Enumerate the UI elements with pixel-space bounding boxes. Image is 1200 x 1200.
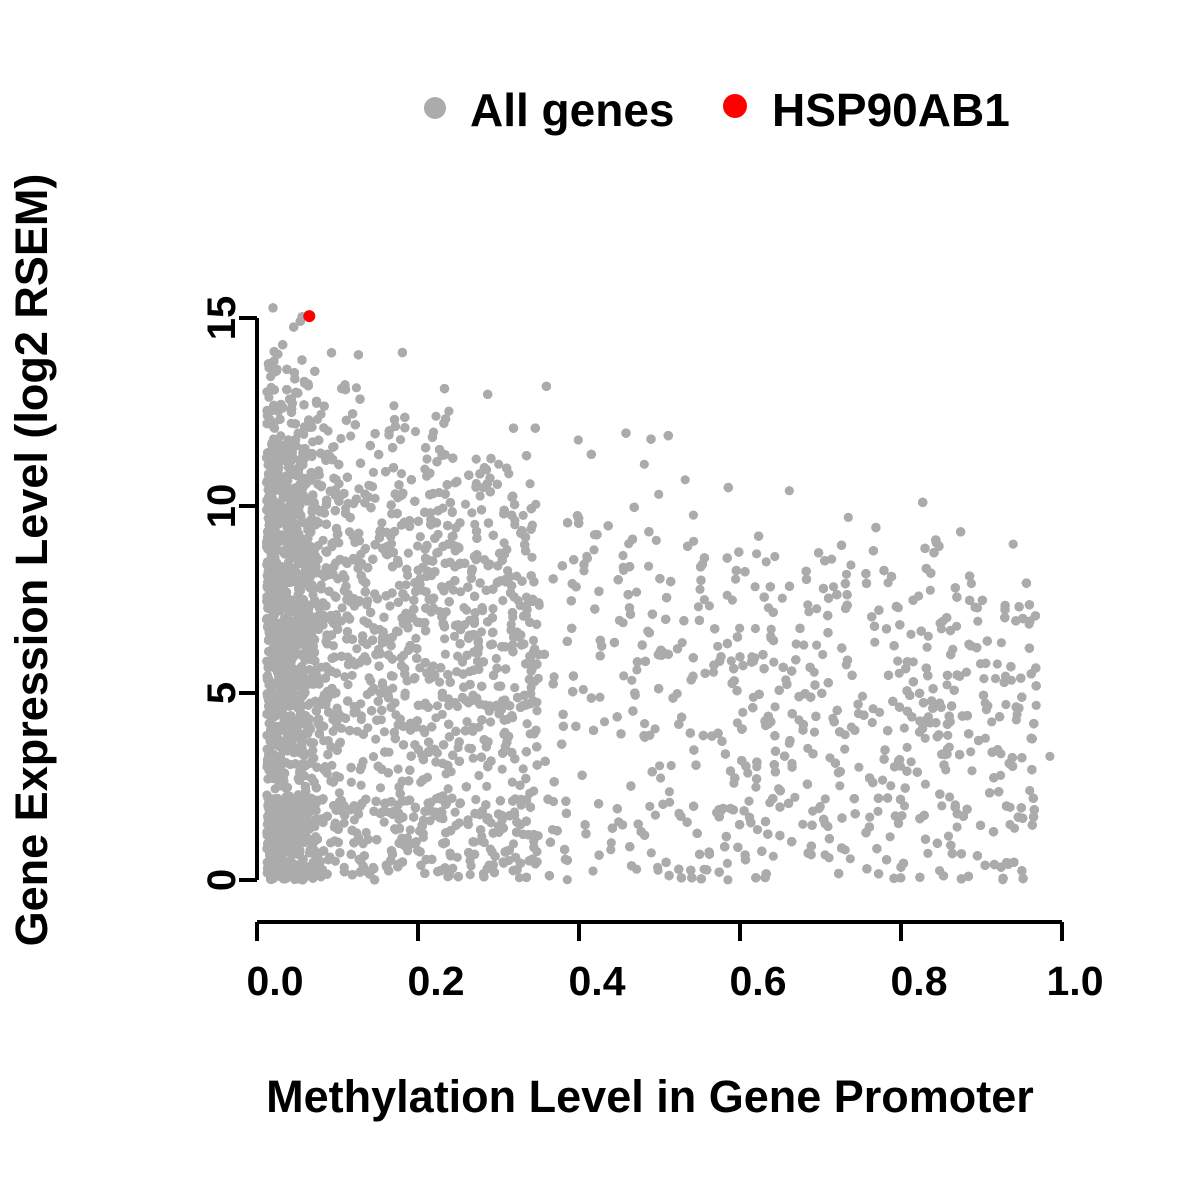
y-axis-title: Gene Expression Level (log2 RSEM) <box>6 174 57 947</box>
y-tick-label-0: 0 <box>200 869 244 891</box>
legend-marker-hsp90ab1 <box>723 94 747 118</box>
y-tick-label-5: 5 <box>200 682 244 704</box>
legend-label-hsp90ab1: HSP90AB1 <box>772 84 1010 136</box>
plot-background <box>0 0 1200 1200</box>
x-tick-label-0.0: 0.0 <box>247 958 304 1004</box>
legend-marker-all-genes <box>424 97 446 119</box>
x-tick-label-1.0: 1.0 <box>1047 958 1104 1004</box>
legend-label-all-genes: All genes <box>470 84 675 136</box>
x-tick-label-0.2: 0.2 <box>408 958 465 1004</box>
x-tick-label-0.8: 0.8 <box>891 958 948 1004</box>
y-tick-label-15: 15 <box>200 296 244 341</box>
x-axis-title: Methylation Level in Gene Promoter <box>266 1071 1034 1122</box>
chart-root: 15 10 5 0 0.0 0.2 0.4 0.6 0.8 1.0 Methyl… <box>0 0 1200 1200</box>
x-tick-label-0.4: 0.4 <box>569 958 626 1004</box>
highlight-point-layer[interactable] <box>303 310 315 322</box>
x-tick-label-0.6: 0.6 <box>730 958 787 1004</box>
highlight-point-hsp90ab1[interactable] <box>303 310 315 322</box>
scatter-plot: 15 10 5 0 0.0 0.2 0.4 0.6 0.8 1.0 Methyl… <box>0 0 1200 1200</box>
y-tick-label-10: 10 <box>200 484 244 529</box>
